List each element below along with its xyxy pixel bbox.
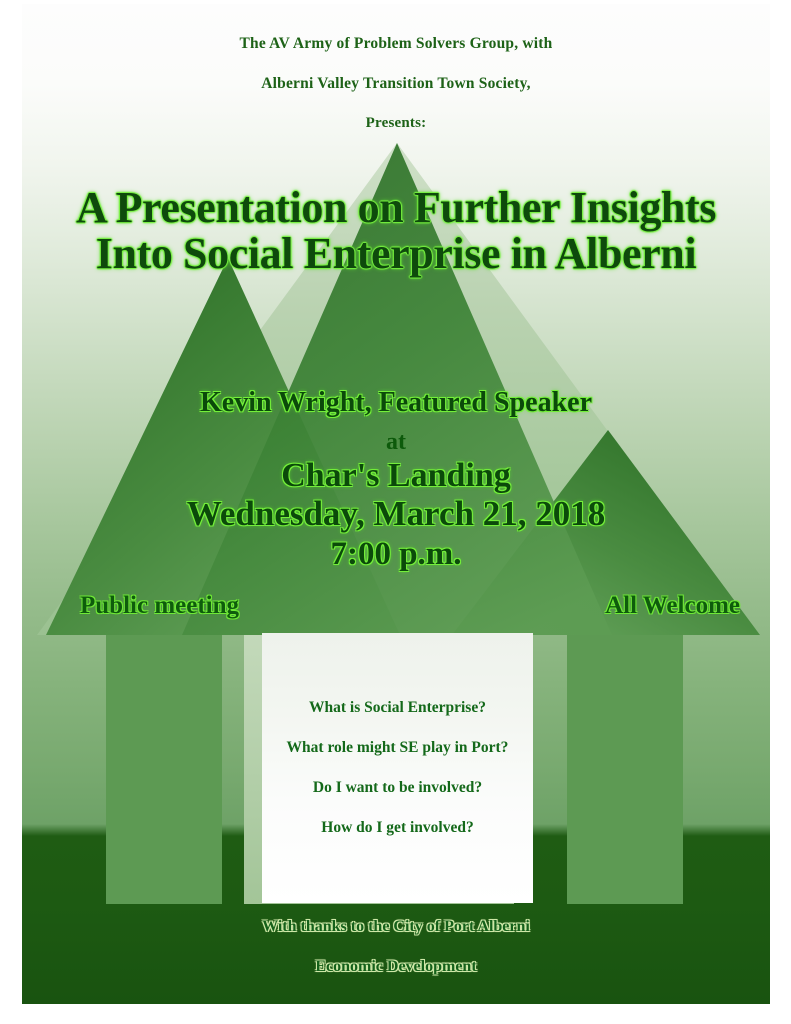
poster-frame: The AV Army of Problem Solvers Group, wi… — [22, 4, 770, 1004]
public-meeting-note: Public meeting — [80, 592, 239, 620]
header-presents-label: Presents: — [22, 115, 770, 132]
list-item: Do I want to be involved? — [262, 779, 533, 797]
header-line-2: Alberni Valley Transition Town Society, — [22, 75, 770, 93]
event-time: 7:00 p.m. — [22, 536, 770, 574]
list-item: What is Social Enterprise? — [262, 699, 533, 717]
at-label: at — [22, 429, 770, 457]
list-item: How do I get involved? — [262, 819, 533, 837]
featured-speaker: Kevin Wright, Featured Speaker — [22, 387, 770, 419]
poster-title: A Presentation on Further Insights Into … — [22, 185, 770, 277]
footer-line-1: With thanks to the City of Port Alberni — [22, 918, 770, 936]
event-date: Wednesday, March 21, 2018 — [22, 494, 770, 534]
all-welcome-note: All Welcome — [605, 592, 740, 620]
left-arrow-shaft — [106, 635, 222, 904]
title-line-2: Into Social Enterprise in Alberni — [22, 231, 770, 277]
right-arrow-shaft — [567, 635, 683, 904]
poster-canvas: The AV Army of Problem Solvers Group, wi… — [0, 0, 791, 1024]
footer-line-2: Economic Development — [22, 958, 770, 976]
question-list: What is Social Enterprise? What role mig… — [262, 699, 533, 837]
header-line-1: The AV Army of Problem Solvers Group, wi… — [22, 35, 770, 53]
list-item: What role might SE play in Port? — [262, 739, 533, 757]
title-line-1: A Presentation on Further Insights — [22, 185, 770, 231]
venue-name: Char's Landing — [22, 456, 770, 495]
